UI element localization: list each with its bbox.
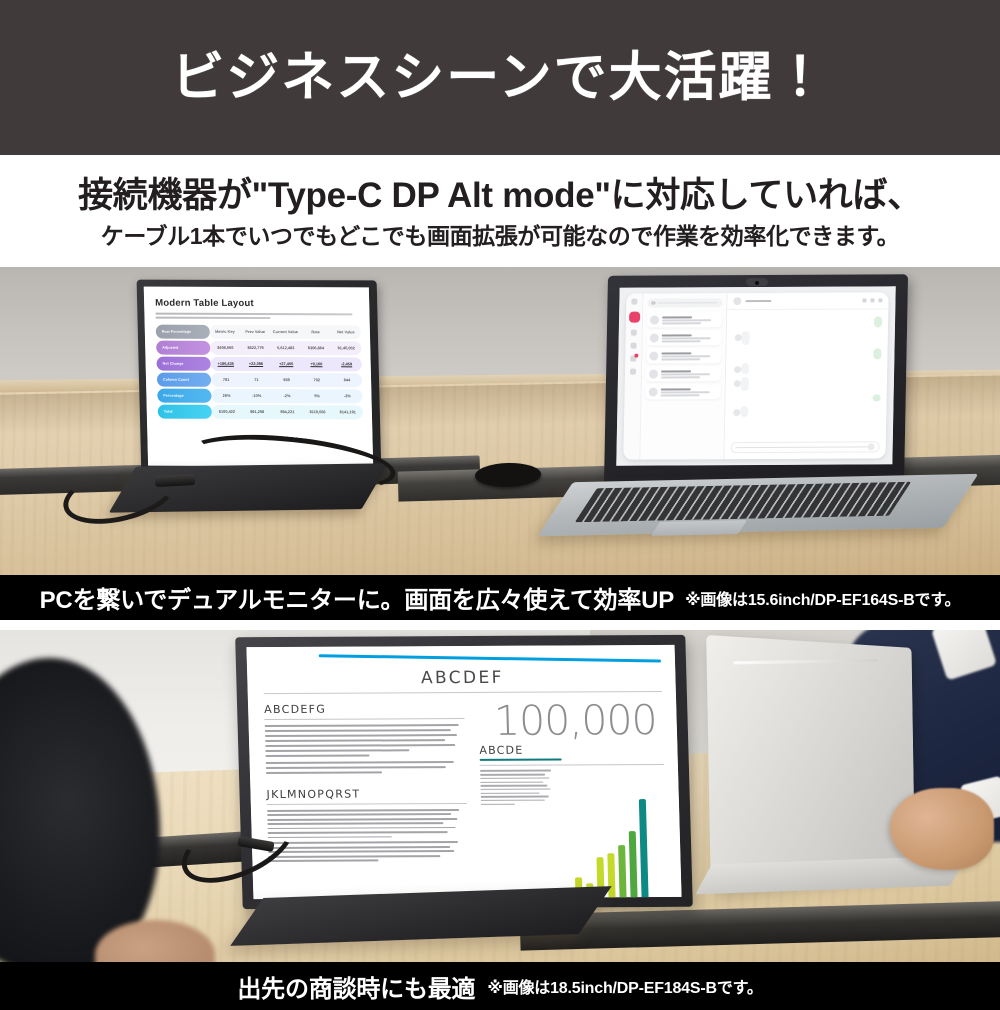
usb-c-plug xyxy=(155,474,196,487)
avatar xyxy=(650,316,659,325)
section-1-heading: ABCDEFG xyxy=(264,702,464,716)
avatar xyxy=(650,334,659,343)
list-item[interactable] xyxy=(647,330,722,345)
document-right-column: 100,000 ABCDE xyxy=(478,701,667,864)
table-cell: -2,459 xyxy=(331,357,362,371)
caption-bar-bottom: 出先の商談時にも最適 ※画像は18.5inch/DP-EF184S-Bです。 xyxy=(0,962,1000,1010)
table-cell: Metric Key xyxy=(210,325,241,339)
table-row-label: Net Change xyxy=(156,357,210,371)
table-row: Row Percentage Metric Key Prev Value Cur… xyxy=(156,325,361,339)
section-2-body xyxy=(267,809,469,863)
message-bubble-sent xyxy=(873,348,881,359)
caption-bar-top: PCを繋いでデュアルモニターに。画面を広々使えて効率UP ※画像は15.6inc… xyxy=(0,575,1000,620)
table-row: Column Count 781 71 939 702 644 xyxy=(157,373,362,387)
table-cell: Prev Value xyxy=(240,325,271,339)
table-cell: Net Value xyxy=(331,325,362,339)
table-app-title: Modern Table Layout xyxy=(155,298,360,310)
typing-hand xyxy=(890,788,994,870)
settings-icon[interactable] xyxy=(630,369,636,375)
list-item[interactable] xyxy=(646,348,721,363)
chart-bar xyxy=(639,799,650,899)
document-left-column: ABCDEFG JKLMNOPQRST xyxy=(264,702,469,865)
table-row: Total $100,422 $91,208 $94,221 $110,556 … xyxy=(158,405,363,419)
table-cell: Rate xyxy=(300,325,331,339)
list-item[interactable] xyxy=(647,312,722,327)
chat-thread xyxy=(724,292,888,459)
table-cell: 71 xyxy=(241,373,272,387)
callout-rule xyxy=(480,764,664,766)
monitor-screen: ABCDEF ABCDEFG JKLMNOPQ xyxy=(246,645,681,899)
notifications-icon[interactable] xyxy=(630,356,636,362)
table-row-cells: $100,422 $91,208 $94,221 $110,556 $141,1… xyxy=(212,405,363,419)
message-bubble-sent xyxy=(873,394,881,402)
message-bubble-received xyxy=(741,377,749,391)
subtitle-main-text: 接続機器が"Type-C DP Alt mode"に対応していれば、 xyxy=(78,176,922,216)
subtitle-sub-text: ケーブル1本でいつでもどこでも画面拡張が可能なので作業を効率化できます。 xyxy=(101,223,900,251)
portable-monitor-center: ABCDEF ABCDEFG JKLMNOPQ xyxy=(239,630,689,922)
laptop-trackpad[interactable] xyxy=(651,520,747,536)
table-cell: +186,435 xyxy=(210,357,241,371)
contact-name xyxy=(745,300,771,302)
calendar-icon[interactable] xyxy=(631,343,637,349)
table-row-cells: $406,566 $622,779 5,612,483 $306,864 $1,… xyxy=(210,341,361,355)
table-row-label: Column Count xyxy=(157,373,211,387)
table-cell: $100,422 xyxy=(212,405,243,419)
search-icon xyxy=(651,301,655,305)
table-row-cells: 26% -10% -2% 5% -3% xyxy=(211,389,362,403)
table-cell: $110,556 xyxy=(302,405,333,419)
subtitle-block: 接続機器が"Type-C DP Alt mode"に対応していれば、 ケーブル1… xyxy=(0,155,1000,267)
caption-main-text: PCを繋いでデュアルモニターに。画面を広々使えて効率UP xyxy=(40,580,674,615)
message-input[interactable] xyxy=(731,441,880,453)
chart-bar xyxy=(618,845,628,899)
table-cell: $1,45,002 xyxy=(331,341,362,355)
chat-app xyxy=(616,286,895,465)
chart-bar xyxy=(607,853,617,899)
table-cell: $94,221 xyxy=(272,405,303,419)
title-rule xyxy=(264,691,662,694)
table-cell: $622,779 xyxy=(240,341,271,355)
search-input[interactable] xyxy=(647,298,722,307)
chat-window xyxy=(623,292,888,459)
message-bubble-received xyxy=(740,406,748,417)
laptop-right xyxy=(598,275,916,523)
table-row-label: Total xyxy=(158,405,212,419)
caption-main-text: 出先の商談時にも最適 xyxy=(237,969,475,1004)
caption-note-text: ※画像は15.6inch/DP-EF164S-Bです。 xyxy=(685,586,960,610)
table-grid: Row Percentage Metric Key Prev Value Cur… xyxy=(156,325,363,419)
table-cell: -2% xyxy=(272,389,303,403)
table-cell: 5,612,483 xyxy=(271,341,302,355)
table-row-cells: 781 71 939 702 644 xyxy=(211,373,362,387)
photo-meeting-table: ABCDEF ABCDEFG JKLMNOPQ xyxy=(0,630,1000,962)
conversation-list[interactable] xyxy=(640,293,727,459)
table-cell: $91,208 xyxy=(242,405,273,419)
laptop-lid xyxy=(706,635,915,891)
big-number: 100,000 xyxy=(478,701,663,741)
heading-rule xyxy=(267,803,467,805)
table-row-label: Row Percentage xyxy=(156,325,210,339)
table-cell: $141,191 xyxy=(333,405,364,419)
table-cell: $306,864 xyxy=(301,341,332,355)
laptop-keyboard[interactable] xyxy=(575,482,912,522)
chat-header xyxy=(727,292,888,310)
table-cell: 781 xyxy=(211,373,242,387)
webcam-icon xyxy=(746,278,768,286)
phone-call-icon[interactable] xyxy=(870,298,874,302)
accent-top-line xyxy=(319,654,661,662)
message-list xyxy=(725,309,889,442)
heading-rule xyxy=(264,718,464,720)
photo-dual-monitor-desk: Modern Table Layout Row Percentage Metri… xyxy=(0,267,1000,575)
caption-note-text: ※画像は18.5inch/DP-EF184S-Bです。 xyxy=(487,974,762,998)
list-item[interactable] xyxy=(646,384,721,399)
message-bubble-sent xyxy=(874,316,882,327)
table-cell: $406,566 xyxy=(210,341,241,355)
table-row-label: Percentage xyxy=(157,389,211,403)
section-2-heading: JKLMNOPQRST xyxy=(266,787,466,801)
callout-heading: ABCDE xyxy=(479,743,663,757)
table-row-label: Adjusted xyxy=(156,341,210,355)
message-bubble-received xyxy=(742,331,750,345)
table-cell: 702 xyxy=(302,373,333,387)
video-call-icon[interactable] xyxy=(862,298,866,302)
more-options-icon[interactable] xyxy=(878,298,882,302)
table-cell: Current Value xyxy=(270,325,301,339)
table-cell: +22,396 xyxy=(241,357,272,371)
contacts-icon[interactable] xyxy=(631,330,637,336)
table-row: Net Change +186,435 +22,396 +27,455 +9,1… xyxy=(156,357,361,371)
avatar xyxy=(649,370,658,379)
table-app-subtitle xyxy=(155,313,360,320)
section-1-body xyxy=(265,724,466,774)
header-band: ビジネスシーンで大活躍！ xyxy=(0,0,1000,155)
page-title: ビジネスシーンで大活躍！ xyxy=(171,51,828,104)
chat-icon[interactable] xyxy=(629,312,640,323)
table-row: Percentage 26% -10% -2% 5% -3% xyxy=(157,389,362,403)
avatar xyxy=(733,297,741,305)
document-app: ABCDEF ABCDEFG JKLMNOPQ xyxy=(246,645,681,899)
avatar xyxy=(649,352,658,361)
section-divider xyxy=(0,620,1000,630)
table-cell: -3% xyxy=(332,389,363,403)
list-item[interactable] xyxy=(646,366,721,381)
table-row-cells: +186,435 +22,396 +27,455 +9,166 -2,459 xyxy=(210,357,361,371)
message-bubble-received xyxy=(741,363,749,374)
laptop-screen xyxy=(616,286,895,465)
table-cell: -10% xyxy=(241,389,272,403)
document-title: ABCDEF xyxy=(263,667,662,689)
table-cell: +27,455 xyxy=(271,357,302,371)
chart-bar xyxy=(629,831,639,899)
menu-icon[interactable] xyxy=(631,299,637,305)
table-cell: +9,166 xyxy=(301,357,332,371)
avatar xyxy=(649,388,658,397)
table-row: Adjusted $406,566 $622,779 5,612,483 $30… xyxy=(156,341,361,355)
bar-chart xyxy=(481,799,669,899)
table-row-cells: Metric Key Prev Value Current Value Rate… xyxy=(210,325,361,339)
product-ad-page: ビジネスシーンで大活躍！ 接続機器が"Type-C DP Alt mode"に対… xyxy=(0,0,1000,1000)
document-columns: ABCDEFG JKLMNOPQRST xyxy=(264,701,667,865)
callout-accent-rule xyxy=(480,758,562,761)
table-cell: 939 xyxy=(271,373,302,387)
table-cell: 644 xyxy=(332,373,363,387)
send-icon[interactable] xyxy=(868,443,875,450)
table-cell: 5% xyxy=(302,389,333,403)
table-cell: 26% xyxy=(211,389,242,403)
